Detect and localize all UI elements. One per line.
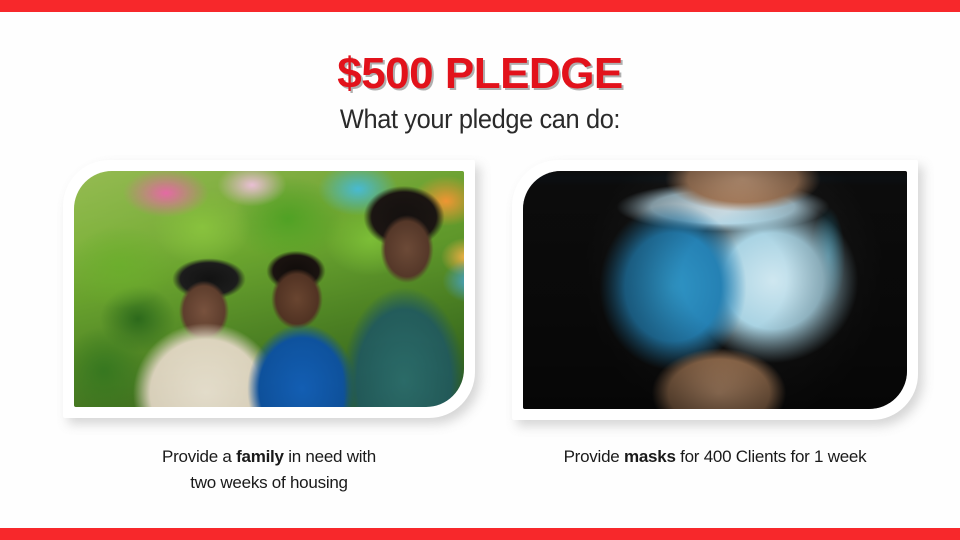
family-of-three-photo [74, 171, 464, 407]
caption-family-line1: Provide a family in need with [162, 447, 376, 466]
slide-headings: $500 PLEDGE What your pledge can do: [0, 52, 960, 135]
person-wearing-surgical-mask-photo [523, 171, 907, 409]
caption-masks: Provide masks for 400 Clients for 1 week [512, 444, 918, 470]
page-title: $500 PLEDGE [0, 52, 960, 96]
caption-family: Provide a family in need with two weeks … [63, 444, 475, 497]
caption-family-text-before: Provide a [162, 447, 236, 466]
caption-family-line2: two weeks of housing [190, 473, 348, 492]
photo-card-family [63, 160, 475, 418]
caption-group: Provide a family in need with two weeks … [0, 444, 960, 504]
page-subtitle: What your pledge can do: [29, 105, 931, 135]
caption-masks-text-before: Provide [564, 447, 624, 466]
caption-family-keyword: family [236, 447, 284, 466]
top-red-accent-bar [0, 0, 960, 12]
photo-card-group [0, 160, 960, 430]
bottom-red-accent-bar [0, 528, 960, 540]
caption-masks-text-after: for 400 Clients for 1 week [676, 447, 867, 466]
photo-card-masks [512, 160, 918, 420]
caption-masks-line1: Provide masks for 400 Clients for 1 week [564, 447, 867, 466]
caption-masks-keyword: masks [624, 447, 676, 466]
caption-family-text-after: in need with [284, 447, 376, 466]
pledge-slide: $500 PLEDGE What your pledge can do: Pro… [0, 0, 960, 540]
